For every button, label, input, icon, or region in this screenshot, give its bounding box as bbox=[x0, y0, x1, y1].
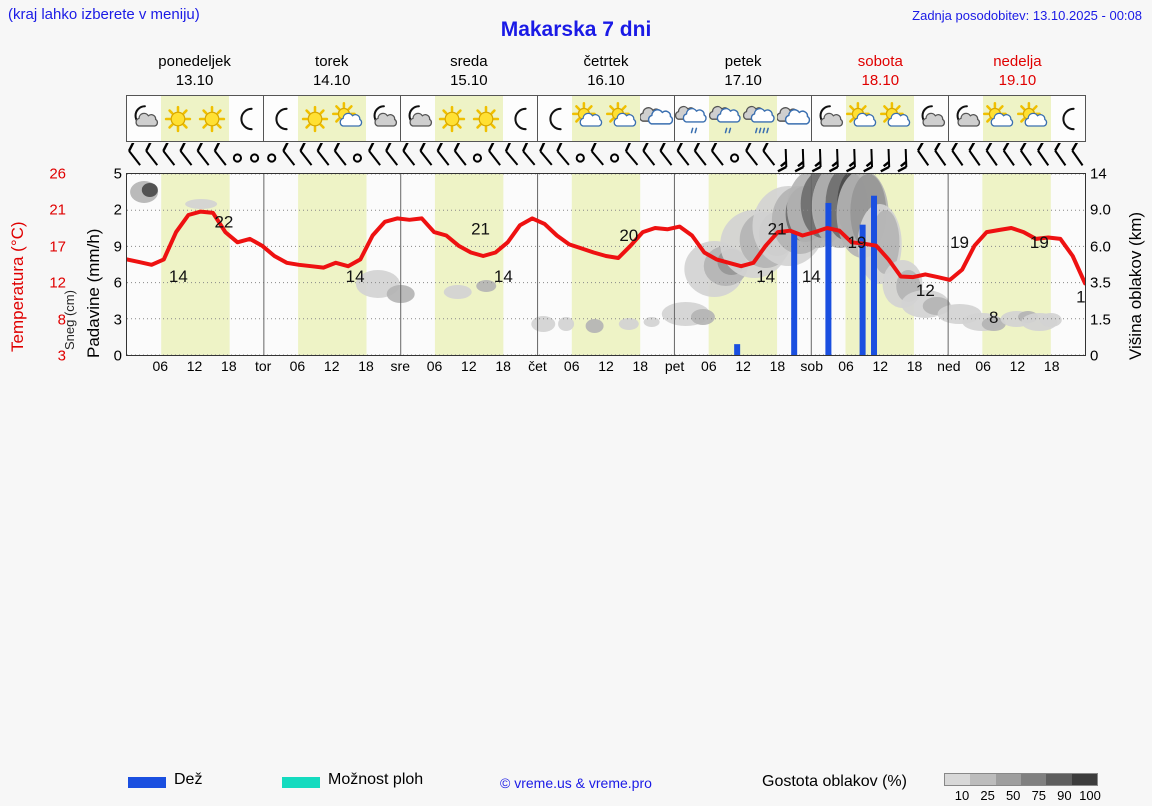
icon-day-4 bbox=[675, 96, 812, 141]
x-tick-label: 06 bbox=[152, 358, 168, 374]
day-header-4: petek17.10 bbox=[675, 52, 812, 94]
weather-icon-cell bbox=[469, 96, 503, 141]
wind-barb bbox=[281, 143, 301, 165]
rain-bar bbox=[825, 203, 831, 355]
day-date: 15.10 bbox=[400, 71, 537, 90]
temperature-point-label: 19 bbox=[847, 233, 866, 252]
wind-barb bbox=[658, 143, 678, 165]
cloud-density-legend-title: Gostota oblakov (%) bbox=[762, 773, 907, 791]
day-name: sobota bbox=[812, 52, 949, 71]
wind-barb bbox=[880, 149, 889, 171]
x-tick-label: 12 bbox=[598, 358, 614, 374]
x-tick-label: 06 bbox=[701, 358, 717, 374]
temperature-point-label: 11 bbox=[1076, 288, 1085, 307]
wind-barb bbox=[144, 143, 164, 165]
day-name: torek bbox=[263, 52, 400, 71]
axis-tick-label: 14 bbox=[1090, 166, 1107, 183]
axis-tick-label: 1.5 bbox=[1090, 311, 1111, 328]
axis-tick-label: 3 bbox=[58, 348, 66, 365]
rain-bar bbox=[791, 232, 797, 355]
x-tick-label: 06 bbox=[290, 358, 306, 374]
sun-cloud-icon bbox=[572, 102, 606, 136]
axis-tick-label: 6 bbox=[114, 275, 122, 292]
chart-legend: Dež Možnost ploh © vreme.us & vreme.pro … bbox=[0, 385, 1152, 430]
axis-tick-label: 0 bbox=[114, 348, 122, 365]
showers-legend-label: Možnost ploh bbox=[328, 771, 423, 789]
temperature-point-label: 14 bbox=[346, 267, 365, 286]
cloud-blob bbox=[1040, 313, 1062, 327]
cloud-blob bbox=[444, 285, 472, 299]
sun-icon bbox=[435, 102, 469, 136]
axis-tick-label: 3 bbox=[114, 311, 122, 328]
wind-barb-calm bbox=[234, 154, 241, 161]
wind-barb bbox=[950, 143, 970, 165]
weather-icon-cell bbox=[572, 96, 606, 141]
weather-icon-cell bbox=[640, 96, 674, 141]
cloud-density-ramp-labels: 1025507590100 bbox=[938, 788, 1108, 806]
weather-icon-cell bbox=[846, 96, 880, 141]
cloud-ramp-label: 50 bbox=[1006, 788, 1020, 803]
wind-barb bbox=[1036, 143, 1056, 165]
x-tick-label: 06 bbox=[564, 358, 580, 374]
wind-barb-band bbox=[126, 143, 1086, 173]
cloud-rain-heavy-icon bbox=[743, 102, 777, 136]
day-date: 19.10 bbox=[949, 71, 1086, 90]
copyright-link[interactable]: © vreme.us & vreme.pro bbox=[500, 775, 652, 791]
day-header-5: sobota18.10 bbox=[812, 52, 949, 94]
moon-icon bbox=[1051, 102, 1085, 136]
wind-barb bbox=[127, 143, 147, 165]
axis-tick-label: 8 bbox=[58, 311, 66, 328]
icon-day-1 bbox=[264, 96, 401, 141]
x-tick-label: 12 bbox=[187, 358, 203, 374]
day-header-0: ponedeljek13.10 bbox=[126, 52, 263, 94]
axis-tick-label: 6.0 bbox=[1090, 238, 1111, 255]
cloud-density-color-ramp bbox=[944, 773, 1098, 786]
cloud-blob bbox=[586, 319, 604, 333]
wind-barb bbox=[435, 143, 455, 165]
icon-day-3 bbox=[538, 96, 675, 141]
wind-barb bbox=[332, 143, 352, 165]
rain-bar bbox=[734, 344, 740, 355]
wind-barb bbox=[487, 143, 507, 165]
sun-cloud-icon bbox=[846, 102, 880, 136]
moon-cloud-icon bbox=[914, 102, 948, 136]
x-tick-label: 12 bbox=[1010, 358, 1026, 374]
sun-cloud-icon bbox=[983, 102, 1017, 136]
weather-icon-cell bbox=[229, 96, 263, 141]
cloud-ramp-step bbox=[1021, 774, 1046, 785]
wind-barb bbox=[916, 143, 936, 165]
cloud-rain-icon bbox=[675, 102, 709, 136]
wind-barb bbox=[503, 143, 524, 165]
wind-barb-calm bbox=[474, 154, 481, 161]
day-date: 16.10 bbox=[537, 71, 674, 90]
x-tick-label: 18 bbox=[221, 358, 237, 374]
temperature-point-label: 22 bbox=[214, 213, 233, 232]
axis-tick-label: 3.5 bbox=[1090, 275, 1111, 292]
rain-legend-label: Dež bbox=[174, 771, 202, 789]
sun-icon bbox=[195, 102, 229, 136]
plot-svg: 14221421142014211419121981911 bbox=[127, 174, 1085, 355]
axis-tick-label: 26 bbox=[49, 166, 66, 183]
wind-barb-calm bbox=[731, 154, 738, 161]
wind-barb bbox=[1019, 143, 1039, 165]
cloud-blob bbox=[691, 309, 715, 325]
x-tick-label: 06 bbox=[427, 358, 443, 374]
weather-icon-cell bbox=[1051, 96, 1085, 141]
moon-cloud-icon bbox=[366, 102, 400, 136]
rain-legend-swatch bbox=[128, 777, 166, 788]
axis-tick-label: 17 bbox=[49, 238, 66, 255]
cloud-blob bbox=[142, 183, 158, 197]
weather-icon-cell bbox=[675, 96, 709, 141]
axis-tick-label: 2 bbox=[114, 202, 122, 219]
moon-icon bbox=[503, 102, 537, 136]
wind-barb bbox=[984, 143, 1004, 165]
sun-cloud-icon bbox=[606, 102, 640, 136]
moon-cloud-icon bbox=[949, 102, 983, 136]
sun-cloud-icon bbox=[880, 102, 914, 136]
temperature-point-label: 14 bbox=[802, 267, 821, 286]
weather-icon-cell bbox=[743, 96, 777, 141]
day-name: sreda bbox=[400, 52, 537, 71]
axis-tick-label: 21 bbox=[49, 202, 66, 219]
sun-icon bbox=[469, 102, 503, 136]
x-tick-label: tor bbox=[255, 358, 271, 374]
meteogram-plot: 14221421142014211419121981911 bbox=[126, 173, 1086, 356]
cloud-ramp-label: 90 bbox=[1057, 788, 1071, 803]
day-header-6: nedelja19.10 bbox=[949, 52, 1086, 94]
weather-icon-cell bbox=[983, 96, 1017, 141]
day-header-2: sreda15.10 bbox=[400, 52, 537, 94]
wind-barb bbox=[367, 143, 387, 165]
day-name: nedelja bbox=[949, 52, 1086, 71]
x-tick-label: 06 bbox=[975, 358, 991, 374]
weather-icon-cell bbox=[332, 96, 366, 141]
axis-tick-label: 0 bbox=[1090, 348, 1098, 365]
wind-barb bbox=[298, 143, 318, 165]
cloud-ramp-step bbox=[996, 774, 1021, 785]
x-tick-label: sob bbox=[800, 358, 823, 374]
precipitation-axis-ticks: 529630 bbox=[100, 0, 122, 443]
wind-barb bbox=[161, 143, 181, 165]
cloud-ramp-label: 10 bbox=[955, 788, 969, 803]
icon-day-0 bbox=[127, 96, 264, 141]
day-header-3: četrtek16.10 bbox=[537, 52, 674, 94]
temperature-point-label: 19 bbox=[1030, 233, 1049, 252]
day-header-band: ponedeljek13.10torek14.10sreda15.10četrt… bbox=[126, 52, 1086, 94]
cloud-icon bbox=[777, 102, 811, 136]
x-tick-label: pet bbox=[665, 358, 684, 374]
wind-barb bbox=[641, 143, 661, 165]
icon-day-5 bbox=[812, 96, 949, 141]
temperature-axis-ticks: 2621171283 bbox=[20, 0, 66, 443]
icon-day-6 bbox=[949, 96, 1085, 141]
wind-barb bbox=[401, 143, 421, 165]
wind-barb bbox=[794, 149, 803, 171]
wind-barb bbox=[418, 143, 438, 165]
weather-icon-cell bbox=[366, 96, 400, 141]
temperature-point-label: 14 bbox=[756, 267, 775, 286]
x-tick-label: 12 bbox=[735, 358, 751, 374]
x-tick-label: 12 bbox=[324, 358, 340, 374]
icon-day-2 bbox=[401, 96, 538, 141]
weather-icon-cell bbox=[161, 96, 195, 141]
wind-barbs-svg bbox=[126, 143, 1086, 173]
wind-barb bbox=[521, 143, 542, 165]
axis-tick-label: 9 bbox=[114, 238, 122, 255]
cloud-blob bbox=[185, 199, 217, 209]
wind-barb bbox=[589, 143, 610, 165]
wind-barb bbox=[761, 143, 781, 165]
rain-bar bbox=[871, 196, 877, 355]
wind-barb bbox=[212, 143, 232, 165]
moon-icon bbox=[538, 102, 572, 136]
axis-tick-label: 9.0 bbox=[1090, 202, 1111, 219]
x-tick-label: 12 bbox=[872, 358, 888, 374]
showers-legend-swatch bbox=[282, 777, 320, 788]
temperature-point-label: 12 bbox=[916, 281, 935, 300]
wind-barb bbox=[1070, 143, 1086, 165]
x-tick-label: 12 bbox=[461, 358, 477, 374]
weather-icon-cell bbox=[401, 96, 435, 141]
weather-icon-cell bbox=[606, 96, 640, 141]
wind-barb bbox=[829, 149, 838, 171]
x-tick-label: 18 bbox=[907, 358, 923, 374]
wind-barb bbox=[538, 143, 559, 165]
wind-barb bbox=[384, 143, 404, 165]
cloud-ramp-step bbox=[970, 774, 995, 785]
temperature-point-label: 21 bbox=[768, 219, 787, 238]
cloud-ramp-label: 75 bbox=[1032, 788, 1046, 803]
x-tick-label: 18 bbox=[358, 358, 374, 374]
cloud-ramp-label: 25 bbox=[980, 788, 994, 803]
day-name: četrtek bbox=[537, 52, 674, 71]
x-tick-label: sre bbox=[391, 358, 410, 374]
cloud-ramp-label: 100 bbox=[1079, 788, 1101, 803]
moon-cloud-icon bbox=[401, 102, 435, 136]
daylight-band bbox=[435, 174, 503, 355]
cloud-height-axis-ticks: 149.06.03.51.50 bbox=[1090, 0, 1130, 443]
day-date: 13.10 bbox=[126, 71, 263, 90]
wind-barb-calm bbox=[611, 154, 618, 161]
wind-barb bbox=[178, 143, 198, 165]
temperature-point-label: 20 bbox=[619, 226, 638, 245]
wind-barb bbox=[315, 143, 335, 165]
weather-icon-band bbox=[126, 95, 1086, 142]
temperature-point-label: 19 bbox=[950, 233, 969, 252]
wind-barb bbox=[195, 143, 215, 165]
moon-icon bbox=[264, 102, 298, 136]
x-tick-label: 18 bbox=[1044, 358, 1060, 374]
x-tick-label: 18 bbox=[632, 358, 648, 374]
cloud-ramp-step bbox=[1072, 774, 1097, 785]
wind-barb bbox=[811, 149, 820, 171]
cloud-rain-icon bbox=[709, 102, 743, 136]
sun-icon bbox=[161, 102, 195, 136]
sun-cloud-icon bbox=[332, 102, 366, 136]
cloud-ramp-step bbox=[945, 774, 970, 785]
moon-cloud-icon bbox=[127, 102, 161, 136]
moon-icon bbox=[229, 102, 263, 136]
wind-barb bbox=[709, 143, 729, 165]
wind-barb bbox=[623, 143, 644, 165]
day-date: 14.10 bbox=[263, 71, 400, 90]
cloud-ramp-step bbox=[1046, 774, 1071, 785]
wind-barb bbox=[967, 143, 987, 165]
wind-barb bbox=[744, 143, 764, 165]
moon-cloud-icon bbox=[812, 102, 846, 136]
weather-icon-cell bbox=[709, 96, 743, 141]
x-tick-label: 18 bbox=[495, 358, 511, 374]
wind-barb bbox=[846, 149, 855, 171]
wind-barb bbox=[555, 143, 576, 165]
x-tick-label: 18 bbox=[770, 358, 786, 374]
day-name: petek bbox=[675, 52, 812, 71]
wind-barb-calm bbox=[268, 154, 275, 161]
axis-tick-label: 5 bbox=[114, 166, 122, 183]
wind-barb bbox=[452, 143, 472, 165]
axis-tick-label: 12 bbox=[49, 275, 66, 292]
temperature-point-label: 21 bbox=[471, 219, 490, 238]
wind-barb bbox=[1001, 143, 1021, 165]
sun-icon bbox=[298, 102, 332, 136]
temperature-point-label: 14 bbox=[494, 267, 513, 286]
cloud-blob bbox=[619, 318, 639, 330]
weather-icon-cell bbox=[1017, 96, 1051, 141]
weather-icon-cell bbox=[777, 96, 811, 141]
day-header-1: torek14.10 bbox=[263, 52, 400, 94]
x-axis-tick-labels: 061218tor061218sre061218čet061218pet0612… bbox=[126, 358, 1086, 378]
wind-barb-calm bbox=[251, 154, 258, 161]
weather-icon-cell bbox=[914, 96, 948, 141]
day-name: ponedeljek bbox=[126, 52, 263, 71]
wind-barb bbox=[675, 143, 695, 165]
temperature-point-label: 14 bbox=[169, 267, 188, 286]
wind-barb bbox=[863, 149, 872, 171]
wind-barb bbox=[692, 143, 712, 165]
weather-icon-cell bbox=[538, 96, 572, 141]
weather-icon-cell bbox=[195, 96, 229, 141]
cloud-icon bbox=[640, 102, 674, 136]
weather-icon-cell bbox=[812, 96, 846, 141]
sun-cloud-icon bbox=[1017, 102, 1051, 136]
x-tick-label: 06 bbox=[838, 358, 854, 374]
wind-barb bbox=[933, 143, 953, 165]
wind-barb-calm bbox=[354, 154, 361, 161]
weather-icon-cell bbox=[949, 96, 983, 141]
temperature-point-label: 8 bbox=[989, 308, 998, 327]
day-date: 18.10 bbox=[812, 71, 949, 90]
weather-icon-cell bbox=[435, 96, 469, 141]
x-tick-label: ned bbox=[937, 358, 960, 374]
wind-barb bbox=[897, 149, 906, 171]
weather-icon-cell bbox=[880, 96, 914, 141]
wind-barb-calm bbox=[577, 154, 584, 161]
wind-barb bbox=[1053, 143, 1073, 165]
wind-barb bbox=[777, 149, 786, 171]
day-date: 17.10 bbox=[675, 71, 812, 90]
weather-icon-cell bbox=[503, 96, 537, 141]
weather-icon-cell bbox=[298, 96, 332, 141]
weather-icon-cell bbox=[264, 96, 298, 141]
x-tick-label: čet bbox=[528, 358, 547, 374]
weather-icon-cell bbox=[127, 96, 161, 141]
